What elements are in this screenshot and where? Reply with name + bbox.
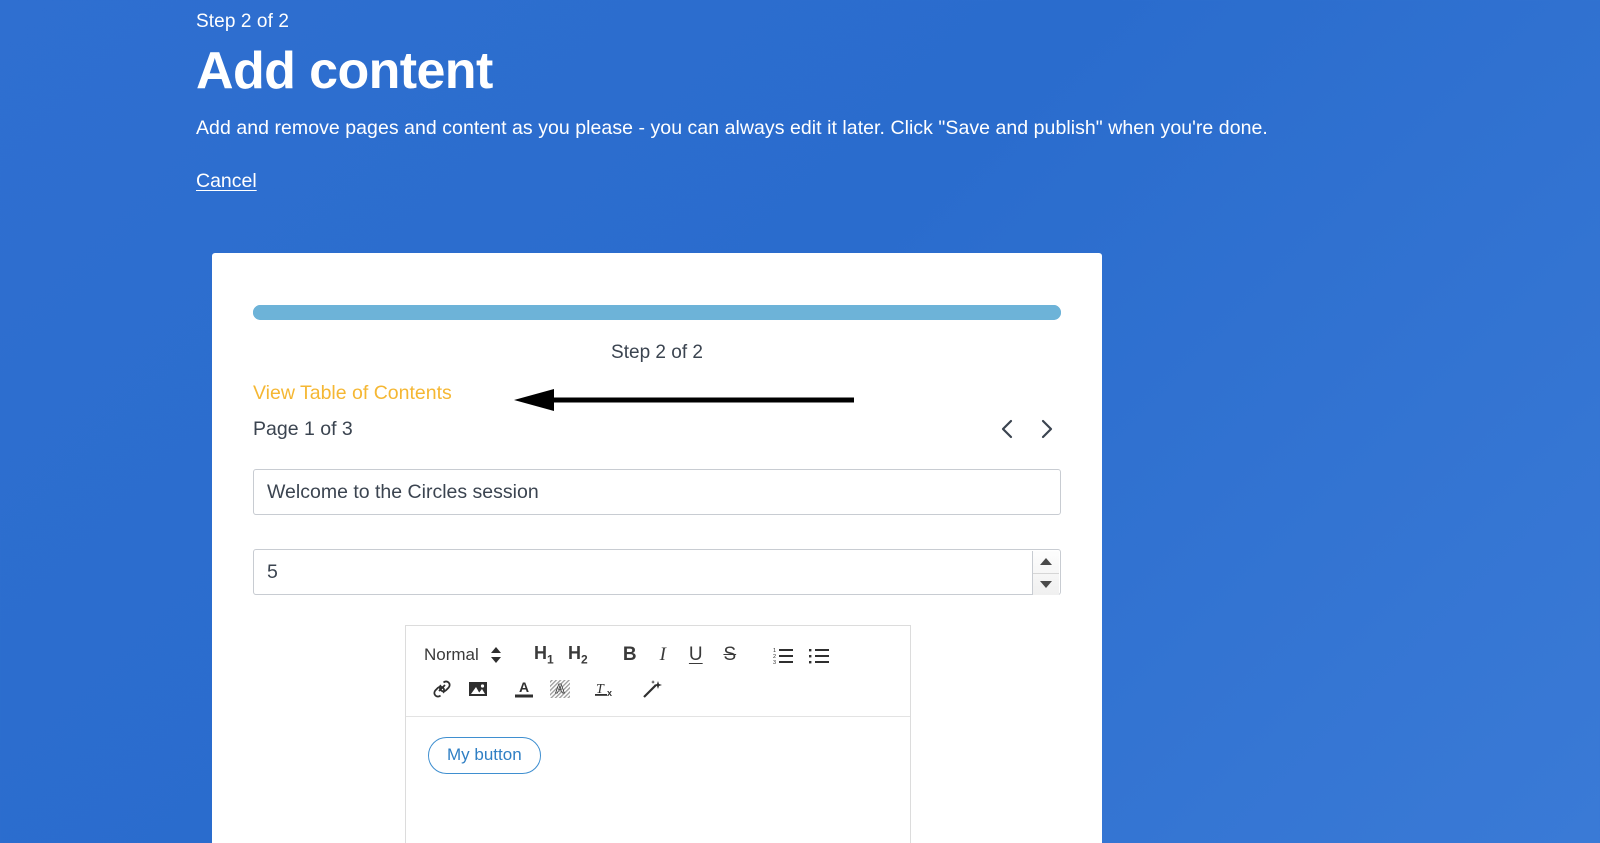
magic-wand-icon[interactable] — [634, 675, 670, 703]
card-step-label: Step 2 of 2 — [253, 340, 1061, 366]
strikethrough-button[interactable]: S — [713, 641, 747, 669]
svg-text:A: A — [555, 681, 565, 696]
number-stepper — [1032, 551, 1059, 595]
editor-toolbar: Normal H1 H2 B — [406, 626, 910, 717]
triangle-up-icon[interactable] — [1033, 551, 1059, 573]
toc-row: View Table of Contents — [253, 379, 1061, 409]
page-header: Step 2 of 2 Add content Add and remove p… — [196, 8, 1456, 194]
underline-button[interactable]: U — [679, 641, 713, 669]
editor-toolbar-row-2: A A — [424, 672, 900, 706]
svg-text:A: A — [519, 679, 529, 695]
background-color-icon[interactable]: A — [542, 675, 578, 703]
heading-2-label: H2 — [568, 643, 588, 667]
rich-text-editor: Normal H1 H2 B — [405, 625, 911, 843]
svg-text:3: 3 — [773, 660, 776, 664]
image-icon[interactable] — [460, 675, 496, 703]
progress-bar-fill — [253, 305, 1061, 320]
triangle-down-icon[interactable] — [1033, 573, 1059, 596]
page-title-input-value: Welcome to the Circles session — [267, 481, 539, 504]
editor-content-area[interactable]: My button — [406, 717, 910, 794]
view-table-of-contents-link[interactable]: View Table of Contents — [253, 382, 452, 404]
page-title: Add content — [196, 38, 1456, 104]
page-navigation — [995, 415, 1061, 443]
heading-1-button[interactable]: H1 — [527, 641, 561, 669]
cancel-link[interactable]: Cancel — [196, 168, 257, 194]
svg-text:x: x — [607, 688, 612, 698]
page-nav-row: Page 1 of 3 — [253, 412, 1061, 446]
page-duration-input-value: 5 — [267, 561, 278, 584]
chevron-left-icon[interactable] — [995, 415, 1019, 443]
bold-button[interactable]: B — [613, 641, 647, 669]
page-description: Add and remove pages and content as you … — [196, 114, 1456, 142]
format-select[interactable]: Normal — [424, 641, 483, 669]
link-icon[interactable] — [424, 675, 460, 703]
chevron-right-icon[interactable] — [1035, 415, 1059, 443]
page-duration-input[interactable]: 5 — [253, 549, 1061, 595]
page-counter: Page 1 of 3 — [253, 415, 353, 443]
card-inner: Step 2 of 2 View Table of Contents Page … — [253, 253, 1061, 843]
heading-1-label: H1 — [534, 643, 554, 667]
clear-formatting-icon[interactable]: T x — [588, 675, 624, 703]
ordered-list-icon[interactable]: 1 2 3 — [765, 641, 801, 669]
page-title-input[interactable]: Welcome to the Circles session — [253, 469, 1061, 515]
content-card: Step 2 of 2 View Table of Contents Page … — [212, 253, 1102, 843]
my-button[interactable]: My button — [428, 737, 541, 774]
italic-button[interactable]: I — [647, 641, 679, 669]
bullet-list-icon[interactable] — [801, 641, 837, 669]
progress-bar — [253, 305, 1061, 320]
font-color-icon[interactable]: A — [506, 675, 542, 703]
updown-chevron-icon[interactable] — [483, 641, 509, 669]
heading-2-button[interactable]: H2 — [561, 641, 595, 669]
step-eyebrow: Step 2 of 2 — [196, 8, 1456, 36]
editor-toolbar-row-1: Normal H1 H2 B — [424, 638, 900, 672]
